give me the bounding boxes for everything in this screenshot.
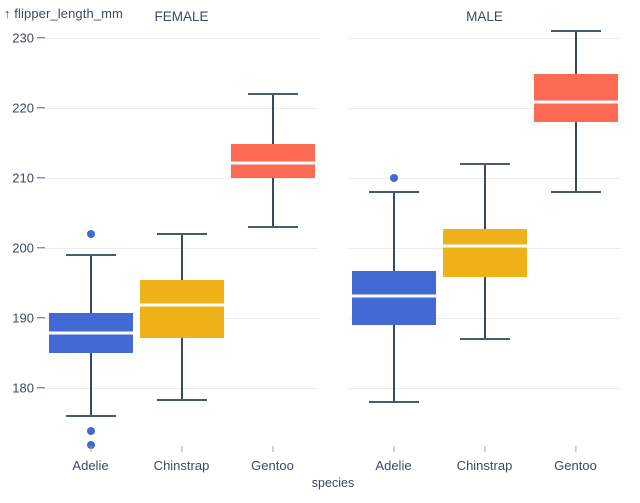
median-line [534,101,618,104]
y-tick-mark-200 [37,247,45,248]
x-tick-label-chinstrap: Chinstrap [154,458,210,473]
median-line [231,162,315,165]
whisker-cap-max [248,93,298,95]
y-tick-label-190: 190 [0,311,34,326]
y-tick-label-210: 210 [0,171,34,186]
whisker-cap-min [248,226,298,228]
y-tick-label-200: 200 [0,241,34,256]
x-tick-label-adelie: Adelie [72,458,108,473]
whisker-cap-max [551,30,601,32]
panel-title-male: MALE [348,9,621,24]
y-tick-mark-180 [37,387,45,388]
y-tick-mark-230 [37,37,45,38]
box-plot-chart: ↑ flipper_length_mm FEMALE MALE 23022021… [0,0,640,503]
whisker-cap-min [551,191,601,193]
x-tick-mark [575,446,576,452]
panel-title-female: FEMALE [45,9,318,24]
x-tick-mark [484,446,485,452]
x-axis-title: species [312,476,354,490]
y-tick-mark-210 [37,177,45,178]
y-tick-label-220: 220 [0,101,34,116]
x-tick-label-adelie: Adelie [375,458,411,473]
y-tick-label-230: 230 [0,31,34,46]
x-tick-mark [181,446,182,452]
x-tick-mark [393,446,394,452]
box-iqr [534,74,618,122]
x-tick-mark [272,446,273,452]
box-plot-female-gentoo[interactable] [45,38,318,446]
y-tick-mark-190 [37,317,45,318]
x-tick-label-chinstrap: Chinstrap [457,458,513,473]
x-tick-label-gentoo: Gentoo [251,458,294,473]
box-plot-male-gentoo[interactable] [348,38,621,446]
y-tick-label-180: 180 [0,381,34,396]
x-tick-mark [90,446,91,452]
plot-panel-male [348,38,621,446]
plot-panel-female [45,38,318,446]
x-tick-label-gentoo: Gentoo [554,458,597,473]
y-tick-mark-220 [37,107,45,108]
